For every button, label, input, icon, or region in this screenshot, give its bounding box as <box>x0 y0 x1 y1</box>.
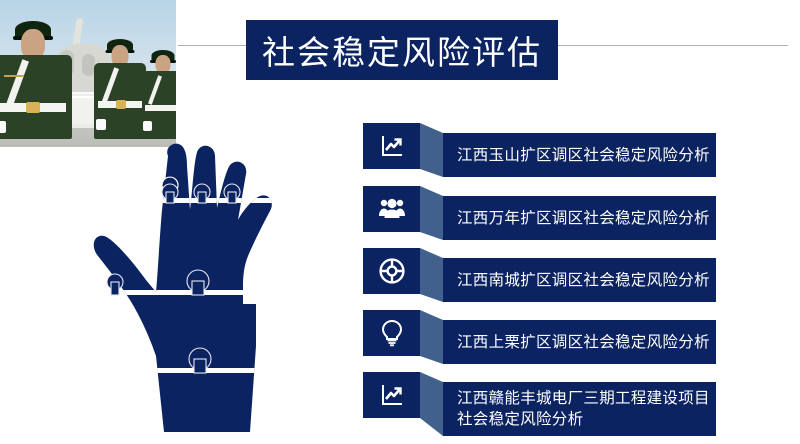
soldier-rear <box>142 47 176 139</box>
row-connector <box>420 248 443 294</box>
row-connector <box>420 123 443 169</box>
soldier-glove <box>143 121 152 131</box>
list-item-label: 江西玉山扩区调区社会稳定风险分析 <box>457 145 710 166</box>
soldier-insignia <box>4 75 24 77</box>
lightbulb-icon <box>363 310 420 356</box>
soldier-buckle <box>26 102 40 113</box>
slide-canvas: 社会稳定风险评估 <box>0 0 800 444</box>
page-title: 社会稳定风险评估 <box>246 20 558 80</box>
list-item-banner[interactable]: 江西玉山扩区调区社会稳定风险分析 <box>443 133 716 177</box>
soldier-buckle <box>116 100 126 109</box>
lifebuoy-icon <box>363 248 420 294</box>
chart-line-up-icon <box>363 372 420 418</box>
soldier-middle <box>94 35 146 139</box>
list-item-banner[interactable]: 江西赣能丰城电厂三期工程建设项目社会稳定风险分析 <box>443 382 716 436</box>
row-connector <box>420 186 443 232</box>
list-item-label: 江西赣能丰城电厂三期工程建设项目社会稳定风险分析 <box>457 388 716 430</box>
row-connector <box>420 310 443 356</box>
list-item-banner[interactable]: 江西万年扩区调区社会稳定风险分析 <box>443 196 716 240</box>
page-title-text: 社会稳定风险评估 <box>262 26 542 74</box>
chart-line-up-icon <box>363 123 420 169</box>
list-item-banner[interactable]: 江西上栗扩区调区社会稳定风险分析 <box>443 320 716 364</box>
soldier-belt <box>145 105 176 111</box>
soldier-glove <box>0 121 6 133</box>
people-group-icon <box>363 186 420 232</box>
list-item-banner[interactable]: 江西南城扩区调区社会稳定风险分析 <box>443 258 716 302</box>
row-connector <box>420 372 443 418</box>
soldier-front <box>0 17 72 139</box>
list-item-label: 江西万年扩区调区社会稳定风险分析 <box>457 208 710 229</box>
list-item-label: 江西南城扩区调区社会稳定风险分析 <box>457 270 710 291</box>
honor-guard-photo <box>0 0 176 147</box>
soldier-glove <box>96 119 106 130</box>
hand-puzzle-graphic <box>60 140 350 432</box>
list-item-label: 江西上栗扩区调区社会稳定风险分析 <box>457 332 710 353</box>
